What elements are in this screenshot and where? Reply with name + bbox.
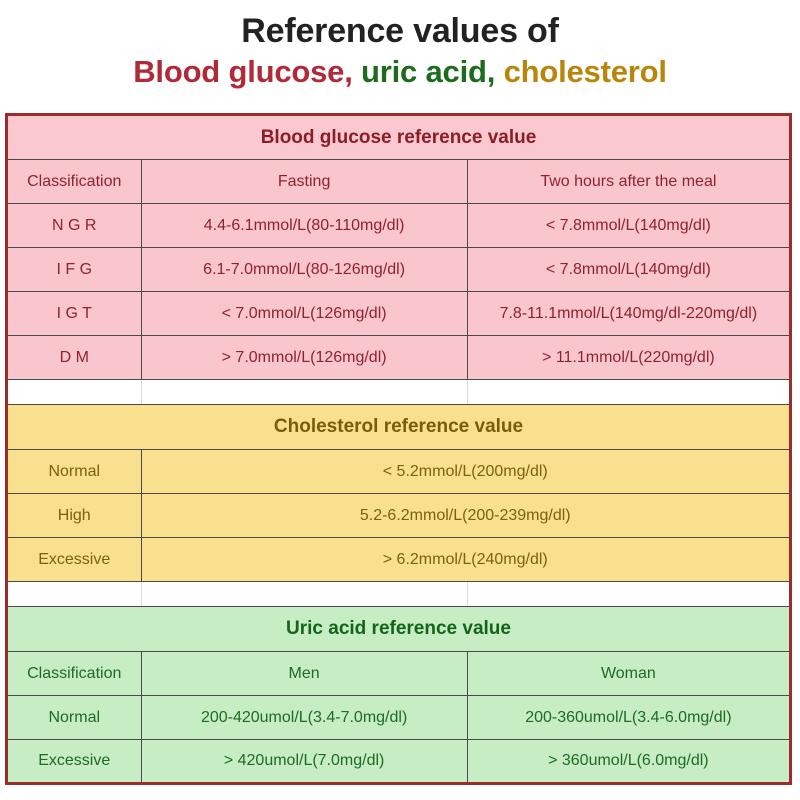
spacer-cell bbox=[141, 582, 467, 607]
section-spacer bbox=[7, 380, 791, 405]
glucose-title-row: Blood glucose reference value bbox=[7, 115, 791, 160]
page-title: Reference values of Blood glucose, uric … bbox=[0, 0, 800, 92]
title-term-blood-glucose: Blood glucose bbox=[133, 54, 344, 89]
reference-value-table: Blood glucose reference value Classifica… bbox=[5, 113, 792, 785]
title-separator-1: , bbox=[344, 54, 361, 89]
uric-acid-row-1-men: > 420umol/L(7.0mg/dl) bbox=[141, 740, 467, 784]
glucose-header-fasting: Fasting bbox=[141, 160, 467, 204]
cholesterol-section-title: Cholesterol reference value bbox=[7, 405, 791, 450]
glucose-row-1-after-meal: < 7.8mmol/L(140mg/dl) bbox=[467, 248, 790, 292]
table-row: Excessive > 6.2mmol/L(240mg/dl) bbox=[7, 538, 791, 582]
glucose-row-2-after-meal: 7.8-11.1mmol/L(140mg/dl-220mg/dl) bbox=[467, 292, 790, 336]
table-row: Normal 200-420umol/L(3.4-7.0mg/dl) 200-3… bbox=[7, 696, 791, 740]
cholesterol-row-0-value: < 5.2mmol/L(200mg/dl) bbox=[141, 450, 791, 494]
uric-acid-row-1-woman: > 360umol/L(6.0mg/dl) bbox=[467, 740, 790, 784]
spacer-cell bbox=[7, 380, 142, 405]
glucose-row-0-classification: N G R bbox=[7, 204, 142, 248]
spacer-cell bbox=[467, 582, 790, 607]
uric-acid-header-woman: Woman bbox=[467, 652, 790, 696]
table-row: I G T < 7.0mmol/L(126mg/dl) 7.8-11.1mmol… bbox=[7, 292, 791, 336]
glucose-section-title: Blood glucose reference value bbox=[7, 115, 791, 160]
table-row: High 5.2-6.2mmol/L(200-239mg/dl) bbox=[7, 494, 791, 538]
uric-acid-row-0-woman: 200-360umol/L(3.4-6.0mg/dl) bbox=[467, 696, 790, 740]
glucose-row-3-fasting: > 7.0mmol/L(126mg/dl) bbox=[141, 336, 467, 380]
table-row: Excessive > 420umol/L(7.0mg/dl) > 360umo… bbox=[7, 740, 791, 784]
title-separator-2: , bbox=[487, 54, 504, 89]
reference-tables: Blood glucose reference value Classifica… bbox=[5, 113, 792, 785]
cholesterol-row-1-value: 5.2-6.2mmol/L(200-239mg/dl) bbox=[141, 494, 791, 538]
uric-acid-row-0-men: 200-420umol/L(3.4-7.0mg/dl) bbox=[141, 696, 467, 740]
uric-acid-row-0-classification: Normal bbox=[7, 696, 142, 740]
cholesterol-row-0-classification: Normal bbox=[7, 450, 142, 494]
title-line-2: Blood glucose, uric acid, cholesterol bbox=[0, 52, 800, 92]
uric-acid-header-classification: Classification bbox=[7, 652, 142, 696]
glucose-row-3-classification: D M bbox=[7, 336, 142, 380]
section-spacer bbox=[7, 582, 791, 607]
title-term-uric-acid: uric acid bbox=[361, 54, 487, 89]
glucose-row-3-after-meal: > 11.1mmol/L(220mg/dl) bbox=[467, 336, 790, 380]
glucose-row-1-fasting: 6.1-7.0mmol/L(80-126mg/dl) bbox=[141, 248, 467, 292]
glucose-header-row: Classification Fasting Two hours after t… bbox=[7, 160, 791, 204]
glucose-header-after-meal: Two hours after the meal bbox=[467, 160, 790, 204]
spacer-cell bbox=[467, 380, 790, 405]
cholesterol-row-1-classification: High bbox=[7, 494, 142, 538]
uric-acid-row-1-classification: Excessive bbox=[7, 740, 142, 784]
uric-acid-header-men: Men bbox=[141, 652, 467, 696]
glucose-row-0-after-meal: < 7.8mmol/L(140mg/dl) bbox=[467, 204, 790, 248]
table-row: Normal < 5.2mmol/L(200mg/dl) bbox=[7, 450, 791, 494]
title-term-cholesterol: cholesterol bbox=[504, 54, 667, 89]
table-row: D M > 7.0mmol/L(126mg/dl) > 11.1mmol/L(2… bbox=[7, 336, 791, 380]
glucose-row-2-classification: I G T bbox=[7, 292, 142, 336]
reference-values-poster: Reference values of Blood glucose, uric … bbox=[0, 0, 800, 800]
table-row: I F G 6.1-7.0mmol/L(80-126mg/dl) < 7.8mm… bbox=[7, 248, 791, 292]
uric-acid-title-row: Uric acid reference value bbox=[7, 607, 791, 652]
glucose-row-2-fasting: < 7.0mmol/L(126mg/dl) bbox=[141, 292, 467, 336]
title-line-1: Reference values of bbox=[0, 10, 800, 52]
cholesterol-row-2-classification: Excessive bbox=[7, 538, 142, 582]
glucose-row-0-fasting: 4.4-6.1mmol/L(80-110mg/dl) bbox=[141, 204, 467, 248]
uric-acid-section-title: Uric acid reference value bbox=[7, 607, 791, 652]
cholesterol-title-row: Cholesterol reference value bbox=[7, 405, 791, 450]
table-row: N G R 4.4-6.1mmol/L(80-110mg/dl) < 7.8mm… bbox=[7, 204, 791, 248]
glucose-header-classification: Classification bbox=[7, 160, 142, 204]
spacer-cell bbox=[141, 380, 467, 405]
uric-acid-header-row: Classification Men Woman bbox=[7, 652, 791, 696]
glucose-row-1-classification: I F G bbox=[7, 248, 142, 292]
spacer-cell bbox=[7, 582, 142, 607]
cholesterol-row-2-value: > 6.2mmol/L(240mg/dl) bbox=[141, 538, 791, 582]
